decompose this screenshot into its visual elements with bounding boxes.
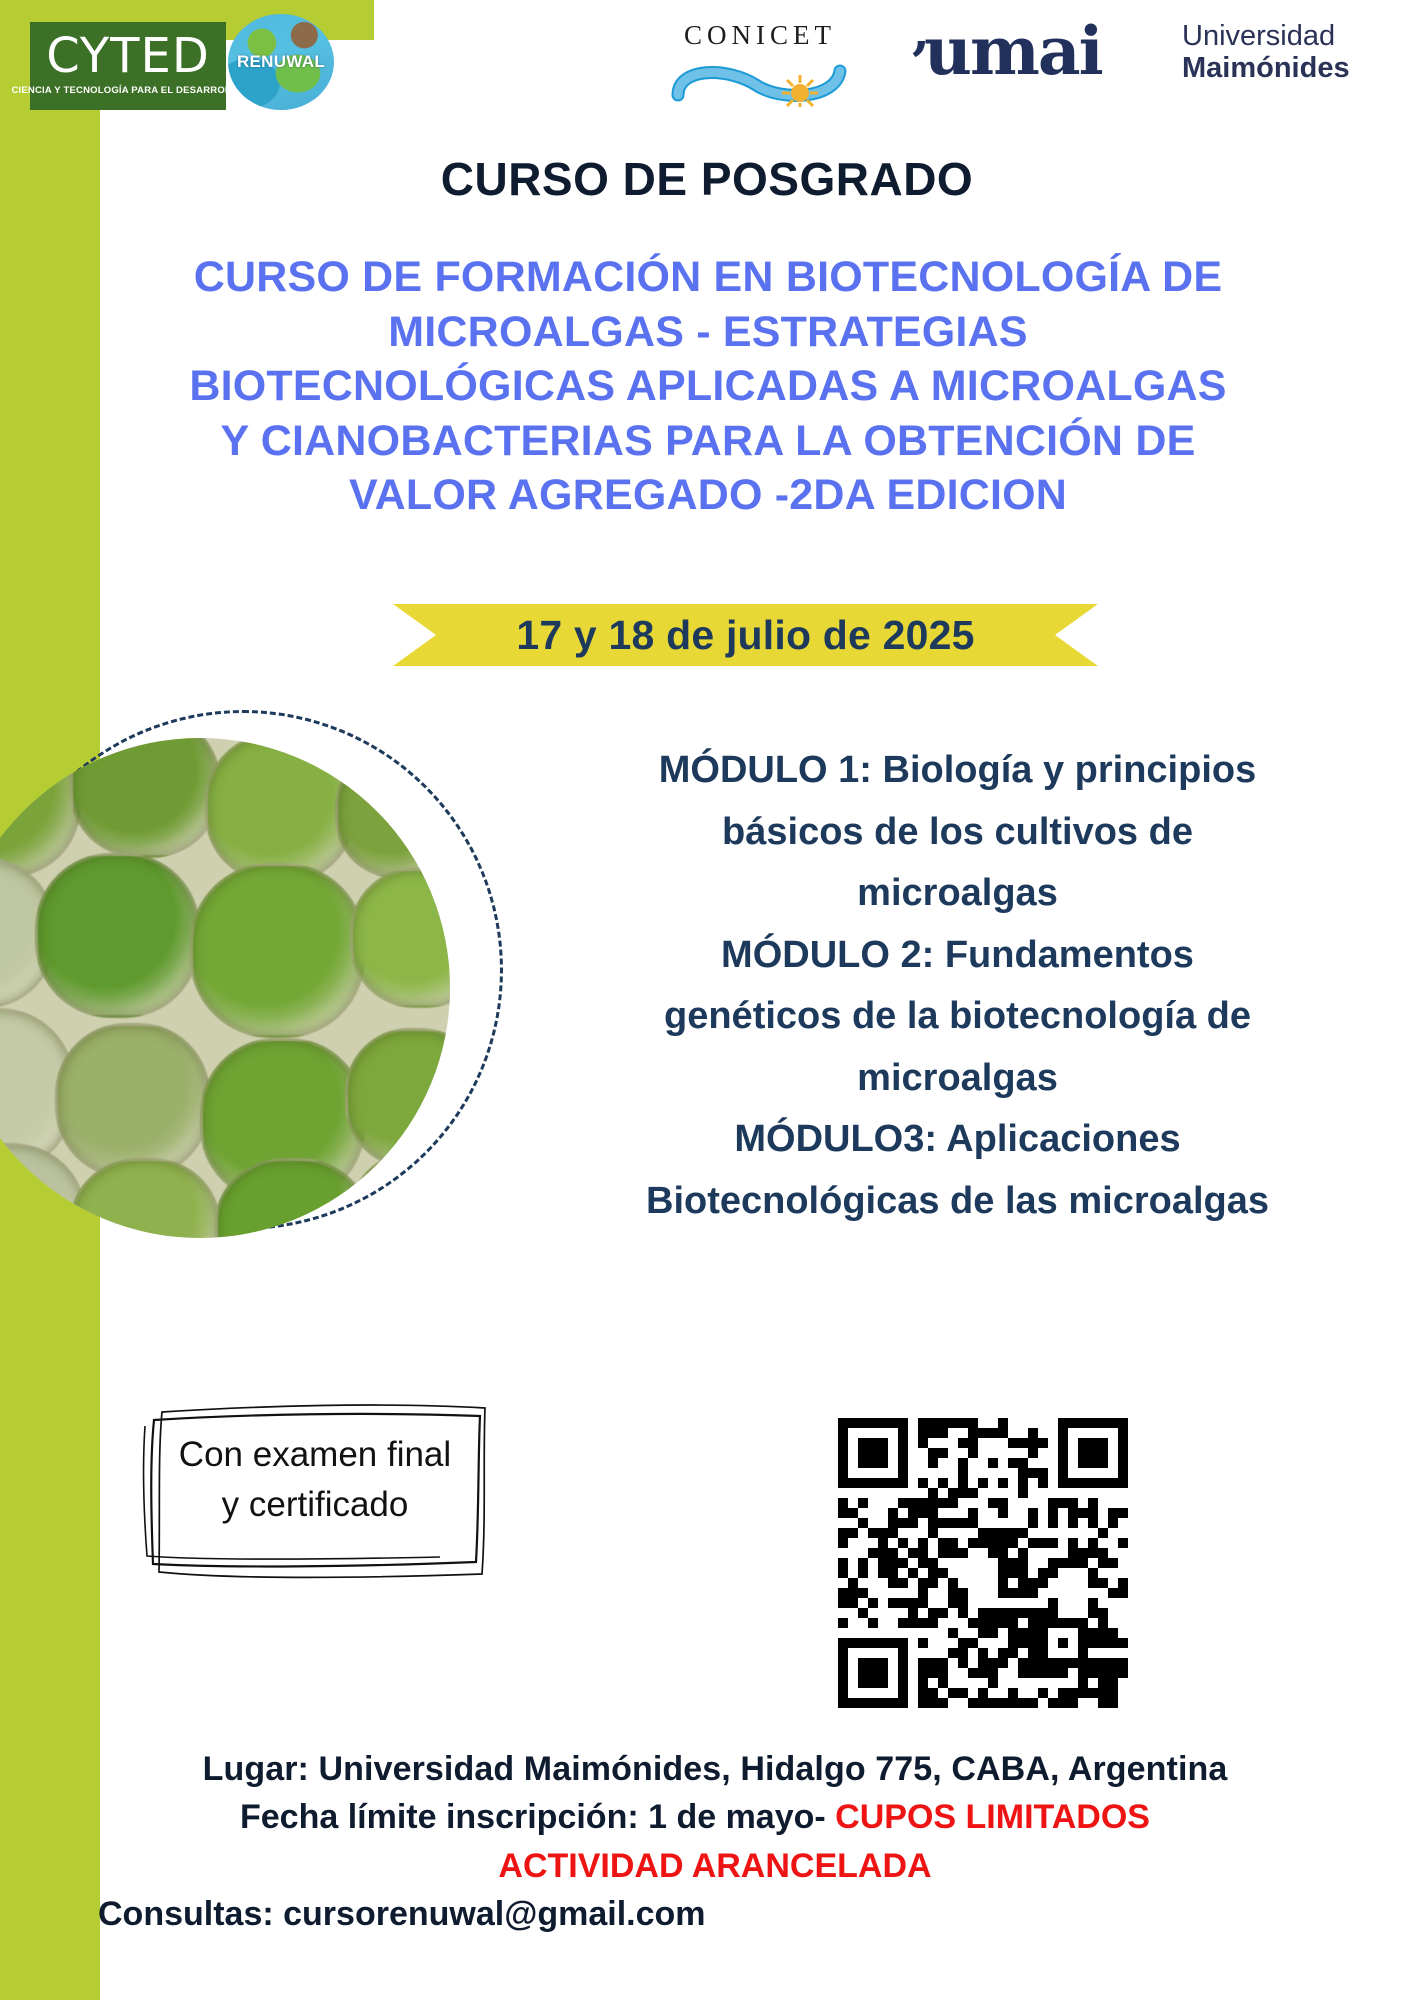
module-line-8: Biotecnológicas de las microalgas <box>540 1171 1375 1233</box>
footer-deadline: Fecha límite inscripción: 1 de mayo- CUP… <box>60 1793 1370 1841</box>
umai-logo-wordmark: umai <box>924 18 1102 84</box>
title-line-5: VALOR AGREGADO -2DA EDICION <box>88 468 1328 523</box>
title-line-3: BIOTECNOLÓGICAS APLICADAS A MICROALGAS <box>88 359 1328 414</box>
exam-note-line1: Con examen final <box>140 1430 490 1480</box>
footer-paid-notice: ACTIVIDAD ARANCELADA <box>60 1842 1370 1890</box>
cyted-logo: CYTED CIENCIA Y TECNOLOGÍA PARA EL DESAR… <box>30 22 226 110</box>
umai-university-name: Universidad Maimónides <box>1182 20 1412 100</box>
umai-logo: ’ umai <box>910 12 1170 108</box>
renuwal-logo: RENUWAL <box>228 14 334 110</box>
renuwal-logo-wordmark: RENUWAL <box>237 52 325 72</box>
qr-code[interactable] <box>838 1418 1128 1708</box>
cyted-logo-subtitle: CIENCIA Y TECNOLOGÍA PARA EL DESARROLLO <box>12 85 245 96</box>
umai-university-line1: Universidad <box>1182 20 1412 52</box>
poster: CYTED CIENCIA Y TECNOLOGÍA PARA EL DESAR… <box>0 0 1414 2000</box>
algae-microscopy-photo <box>0 738 450 1238</box>
footer-venue: Lugar: Universidad Maimónides, Hidalgo 7… <box>60 1745 1370 1793</box>
title-line-2: MICROALGAS - ESTRATEGIAS <box>88 305 1328 360</box>
umai-university-line2: Maimónides <box>1182 52 1412 84</box>
module-line-1: MÓDULO 1: Biología y principios <box>540 740 1375 802</box>
date-ribbon: 17 y 18 de julio de 2025 <box>393 604 1098 666</box>
page-title: CURSO DE FORMACIÓN EN BIOTECNOLOGÍA DE M… <box>88 250 1328 523</box>
module-line-7: MÓDULO3: Aplicaciones <box>540 1109 1375 1171</box>
footer-info: Lugar: Universidad Maimónides, Hidalgo 7… <box>60 1745 1370 1938</box>
exam-note-text: Con examen final y certificado <box>140 1430 490 1529</box>
exam-note-box: Con examen final y certificado <box>140 1390 490 1585</box>
module-line-3: microalgas <box>540 863 1375 925</box>
module-line-4: MÓDULO 2: Fundamentos <box>540 925 1375 987</box>
footer-deadline-highlight: CUPOS LIMITADOS <box>835 1798 1150 1836</box>
footer-deadline-label: Fecha límite inscripción: 1 de mayo- <box>240 1798 835 1836</box>
title-line-4: Y CIANOBACTERIAS PARA LA OBTENCIÓN DE <box>88 414 1328 469</box>
footer-contact: Consultas: cursorenuwal@gmail.com <box>60 1890 1370 1938</box>
title-line-1: CURSO DE FORMACIÓN EN BIOTECNOLOGÍA DE <box>88 250 1328 305</box>
logo-row: CYTED CIENCIA Y TECNOLOGÍA PARA EL DESAR… <box>0 0 1414 120</box>
conicet-logo-wordmark: CONICET <box>684 20 836 51</box>
exam-note-line2: y certificado <box>140 1480 490 1530</box>
algae-photo-group <box>0 700 520 1260</box>
date-ribbon-text: 17 y 18 de julio de 2025 <box>516 612 974 659</box>
conicet-logo: CONICET <box>660 14 860 110</box>
module-line-5: genéticos de la biotecnología de <box>540 986 1375 1048</box>
kicker-heading: CURSO DE POSGRADO <box>0 152 1414 206</box>
conicet-infinity-icon <box>670 55 850 107</box>
module-line-6: microalgas <box>540 1048 1375 1110</box>
cyted-logo-wordmark: CYTED <box>46 32 210 80</box>
module-list: MÓDULO 1: Biología y principios básicos … <box>540 740 1375 1232</box>
module-line-2: básicos de los cultivos de <box>540 802 1375 864</box>
